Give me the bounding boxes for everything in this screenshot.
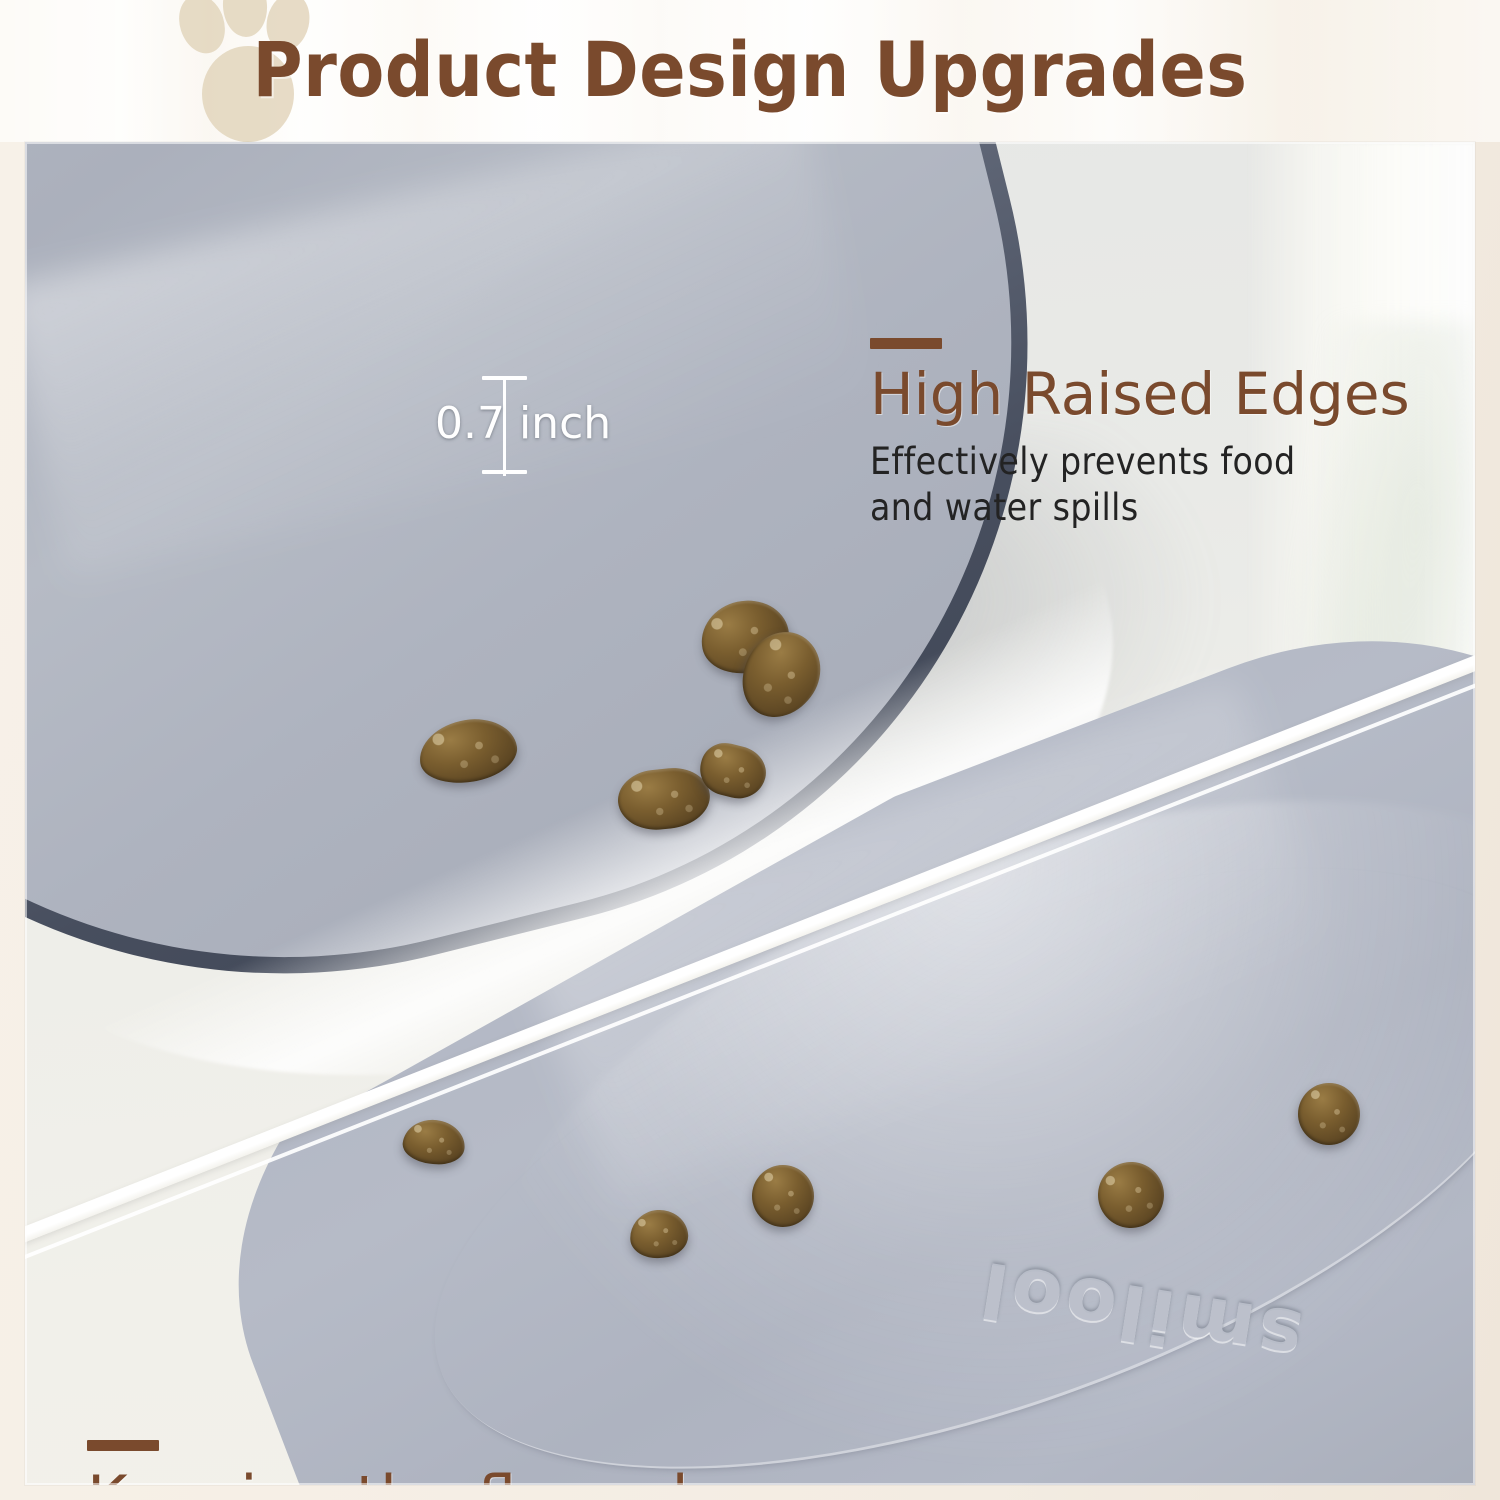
product-infographic: Product Design Upgrades smilool (0, 0, 1500, 1500)
header-band: Product Design Upgrades (0, 0, 1500, 142)
callout-accent-dash (87, 1440, 159, 1451)
product-photo-panel: smilool 0.7 inch High Raised Edges Effec… (25, 142, 1475, 1485)
callout-title: High Raised Edges (870, 361, 1410, 427)
callout-keeping-floor-clean: Keeping the floor clean Minimizes time s… (87, 1440, 957, 1485)
callout-subtitle-line-2: and water spills (870, 485, 1410, 531)
callout-subtitle: Effectively prevents food and water spil… (870, 439, 1410, 531)
page-title: Product Design Upgrades (0, 22, 1500, 118)
callout-high-raised-edges: High Raised Edges Effectively prevents f… (870, 338, 1410, 531)
callout-accent-dash (870, 338, 942, 349)
dimension-cap-bottom (482, 470, 527, 474)
callout-title: Keeping the floor clean (87, 1463, 957, 1485)
dimension-label: 0.7 inch (435, 398, 611, 450)
height-dimension-annotation: 0.7 inch (473, 370, 663, 482)
callout-subtitle-line-1: Effectively prevents food (870, 439, 1410, 485)
